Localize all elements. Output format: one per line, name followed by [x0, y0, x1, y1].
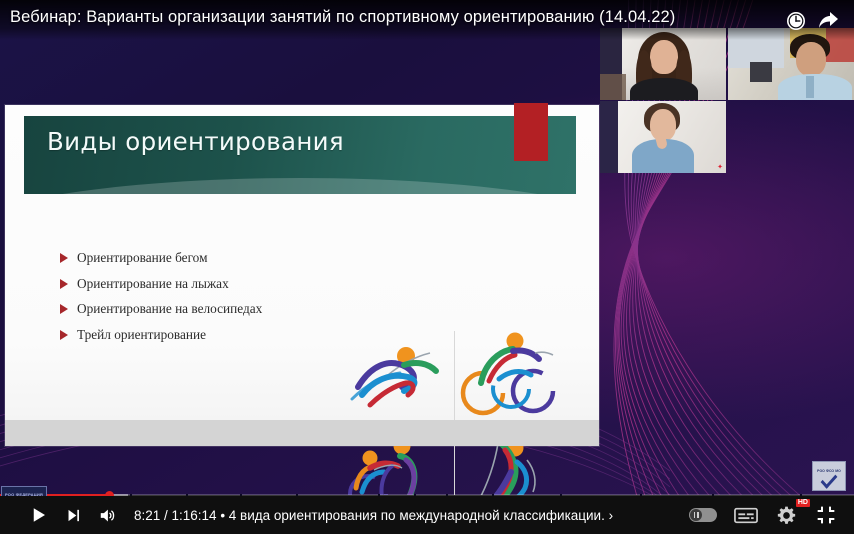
collapse-button[interactable] — [806, 496, 846, 534]
video-frame[interactable]: Виды ориентирования Ориентирование бегом… — [0, 0, 854, 495]
triangle-bullet-icon — [60, 279, 68, 289]
triangle-bullet-icon — [60, 253, 68, 263]
camera-tile-3[interactable]: ✦ — [600, 101, 726, 173]
banner-curve-accent — [24, 178, 576, 194]
next-track-icon — [65, 507, 82, 524]
triangle-bullet-icon — [60, 304, 68, 314]
collapse-icon — [816, 505, 836, 525]
subtitles-icon — [734, 507, 758, 524]
video-title: Вебинар: Варианты организации занятий по… — [10, 8, 675, 27]
subtitles-button[interactable] — [726, 496, 766, 534]
video-player[interactable]: Виды ориентирования Ориентирование бегом… — [0, 0, 854, 534]
slide-heading: Виды ориентирования — [47, 127, 344, 156]
bullet-label: Трейл ориентирование — [77, 327, 206, 343]
cycling-pictogram — [455, 327, 566, 426]
bullet-label: Ориентирование на велосипедах — [77, 301, 262, 317]
slide-bullet-list: Ориентирование бегом Ориентирование на л… — [60, 250, 262, 352]
bullet-label: Ориентирование на лыжах — [77, 276, 229, 292]
share-arrow-icon[interactable] — [816, 9, 840, 33]
autoplay-toggle[interactable] — [689, 508, 717, 522]
controls-right-group[interactable]: HD — [680, 496, 846, 534]
pictogram-grid — [344, 327, 566, 495]
bullet-item: Ориентирование на лыжах — [60, 276, 262, 292]
settings-button[interactable]: HD — [766, 496, 806, 534]
play-button[interactable] — [22, 496, 56, 534]
volume-button[interactable] — [90, 496, 124, 534]
bullet-item: Ориентирование на велосипедах — [60, 301, 262, 317]
gear-icon — [776, 505, 797, 526]
camera-tile-1[interactable] — [600, 28, 726, 100]
organization-watermark: РОО ФСО МО — [812, 461, 846, 491]
bullet-label: Ориентирование бегом — [77, 250, 208, 266]
slide-red-accent-block — [514, 103, 548, 161]
camera-tile-2[interactable] — [728, 28, 854, 100]
time-and-chapter-label: 8:21 / 1:16:14 • 4 вида ориентирования п… — [134, 508, 613, 523]
next-video-button[interactable] — [56, 496, 90, 534]
clock-icon[interactable] — [784, 9, 808, 33]
player-controls[interactable]: 8:21 / 1:16:14 • 4 вида ориентирования п… — [0, 496, 854, 534]
presentation-slide: Виды ориентирования Ориентирование бегом… — [5, 105, 599, 446]
volume-icon — [98, 506, 117, 525]
camera-recording-indicator: ✦ — [717, 163, 723, 171]
running-pictogram — [344, 327, 455, 426]
play-icon — [30, 506, 48, 524]
slide-footer-band — [5, 420, 599, 446]
autoplay-knob — [690, 509, 702, 521]
triangle-bullet-icon — [60, 330, 68, 340]
bullet-item: Трейл ориентирование — [60, 327, 262, 343]
bullet-item: Ориентирование бегом — [60, 250, 262, 266]
